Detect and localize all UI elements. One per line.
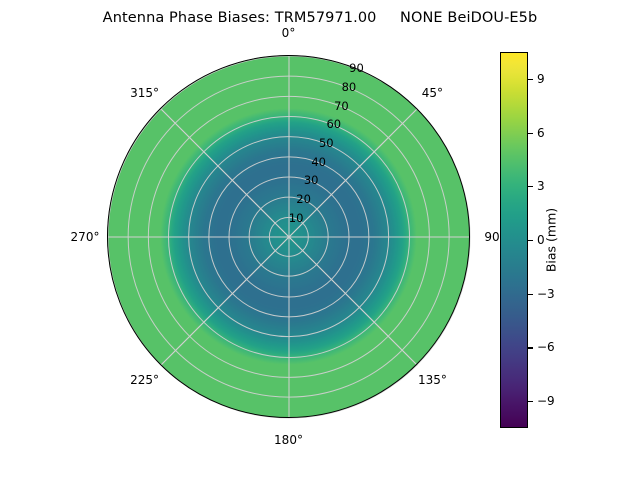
- colorbar-tick-mark: [528, 401, 533, 402]
- colorbar-tick-label: 9: [537, 72, 545, 86]
- colorbar-tick-mark: [528, 240, 533, 241]
- colorbar-tick-label: 3: [537, 179, 545, 193]
- colorbar-tick-label: 6: [537, 126, 545, 140]
- angular-tick-label: 90: [484, 230, 499, 244]
- polar-plot[interactable]: [107, 55, 470, 418]
- colorbar-tick-label: −9: [537, 394, 555, 408]
- colorbar-label: Bias (mm): [544, 208, 559, 272]
- radial-tick-label: 20: [296, 192, 311, 206]
- angular-tick-label: 225°: [130, 373, 159, 387]
- angular-tick-label: 270°: [71, 230, 100, 244]
- colorbar[interactable]: 9630−3−6−9: [500, 52, 528, 428]
- radial-tick-label: 10: [289, 211, 304, 225]
- angular-tick-label: 45°: [422, 86, 443, 100]
- colorbar-tick-mark: [528, 186, 533, 187]
- bias-contour-field: [107, 55, 470, 418]
- colorbar-gradient: [500, 52, 528, 428]
- colorbar-tick-label: −6: [537, 340, 555, 354]
- radial-tick-label: 30: [304, 173, 319, 187]
- colorbar-tick-mark: [528, 294, 533, 295]
- page-title: Antenna Phase Biases: TRM57971.00 NONE B…: [0, 10, 640, 26]
- angular-tick-label: 0°: [282, 26, 296, 40]
- colorbar-tick-label: −3: [537, 287, 555, 301]
- colorbar-tick-mark: [528, 133, 533, 134]
- radial-tick-label: 60: [326, 117, 341, 131]
- angular-tick-label: 315°: [130, 86, 159, 100]
- radial-tick-label: 80: [342, 80, 357, 94]
- angular-tick-label: 135°: [418, 373, 447, 387]
- colorbar-tick-mark: [528, 79, 533, 80]
- colorbar-tick-mark: [528, 347, 533, 348]
- radial-tick-label: 40: [311, 155, 326, 169]
- radial-tick-label: 50: [319, 136, 334, 150]
- radial-tick-label: 90: [349, 61, 364, 75]
- angular-tick-label: 180°: [274, 433, 303, 447]
- figure-canvas: Antenna Phase Biases: TRM57971.00 NONE B…: [0, 0, 640, 480]
- radial-tick-label: 70: [334, 99, 349, 113]
- polar-field-clip: [107, 55, 470, 418]
